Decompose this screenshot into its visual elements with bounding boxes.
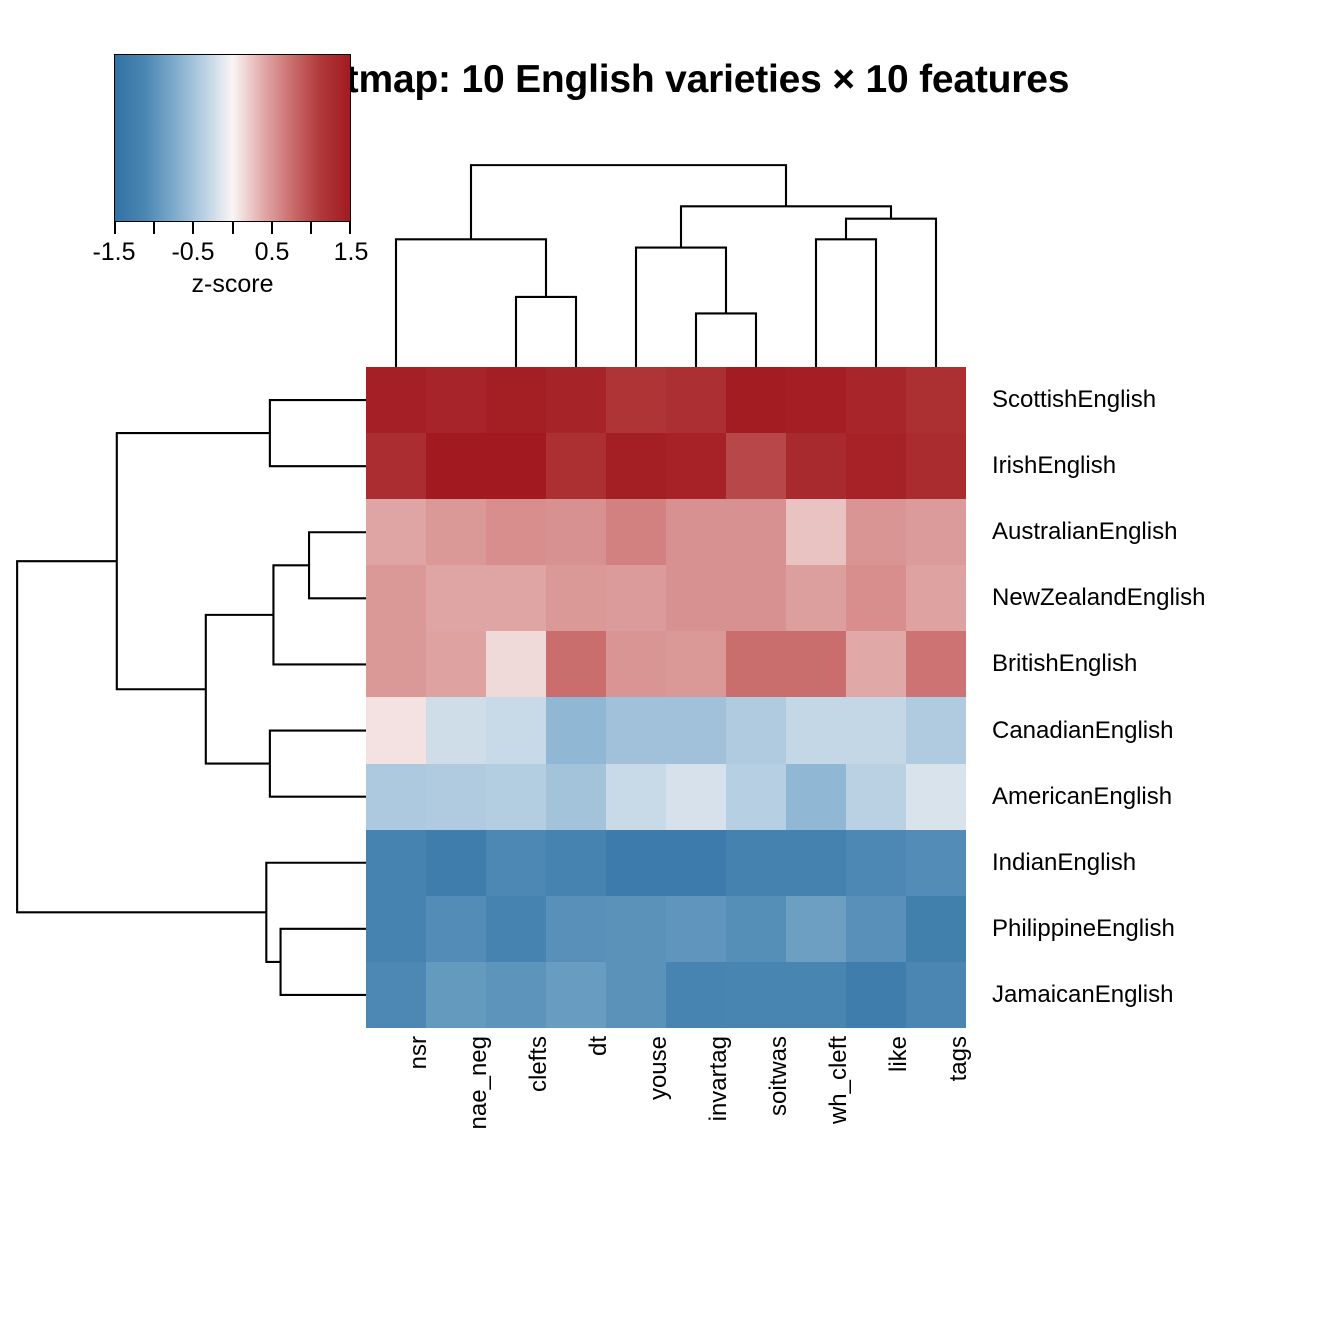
heatmap-cell <box>366 565 426 631</box>
heatmap-cell <box>606 764 666 830</box>
row-label: IrishEnglish <box>992 452 1116 480</box>
heatmap-cell <box>726 499 786 565</box>
heatmap-cell <box>666 764 726 830</box>
heatmap-cell <box>666 896 726 962</box>
heatmap-cell <box>486 764 546 830</box>
heatmap-cell <box>906 764 966 830</box>
heatmap-cell <box>426 565 486 631</box>
heatmap-cell <box>726 367 786 433</box>
row-label: PhilippineEnglish <box>992 915 1175 943</box>
heatmap-cell <box>726 962 786 1028</box>
heatmap-cell <box>546 896 606 962</box>
heatmap-cell <box>486 697 546 763</box>
column-label: like <box>885 1036 913 1072</box>
dendrogram-link <box>816 239 876 367</box>
heatmap-cell <box>666 631 726 697</box>
row-label-axis: ScottishEnglishIrishEnglishAustralianEng… <box>992 367 1332 1028</box>
column-label: youse <box>645 1036 673 1100</box>
heatmap-cell <box>846 565 906 631</box>
heatmap-cell <box>726 697 786 763</box>
heatmap-cell <box>606 565 666 631</box>
heatmap-cell <box>786 565 846 631</box>
heatmap-cell <box>906 631 966 697</box>
heatmap-cell <box>486 896 546 962</box>
heatmap-cell <box>726 830 786 896</box>
column-label: nae_neg <box>465 1036 493 1129</box>
heatmap-cell <box>606 896 666 962</box>
heatmap-panel <box>366 367 966 1028</box>
column-label: tags <box>945 1036 973 1081</box>
column-label-axis: nsrnae_negcleftsdtyouseinvartagsoitwaswh… <box>366 1036 966 1216</box>
legend-tick-marks <box>114 222 351 234</box>
heatmap-cell <box>486 830 546 896</box>
heatmap-cell <box>546 962 606 1028</box>
legend-tick-label: -0.5 <box>171 238 214 267</box>
row-label: AustralianEnglish <box>992 518 1177 546</box>
heatmap-cell <box>426 499 486 565</box>
heatmap-cell <box>726 764 786 830</box>
color-legend: -1.5-0.50.51.5 z-score <box>114 54 351 299</box>
heatmap-cell <box>606 499 666 565</box>
heatmap-cell <box>426 367 486 433</box>
heatmap-cell <box>786 367 846 433</box>
heatmap-cell <box>366 896 426 962</box>
heatmap-cell <box>846 962 906 1028</box>
heatmap-cell <box>906 697 966 763</box>
heatmap-cell <box>486 962 546 1028</box>
heatmap-cell <box>906 367 966 433</box>
dendrogram-link <box>270 731 366 797</box>
dendrogram-link <box>396 239 546 367</box>
heatmap-cell <box>606 697 666 763</box>
heatmap-cell <box>666 697 726 763</box>
heatmap-cell <box>366 367 426 433</box>
heatmap-cell <box>366 433 426 499</box>
dendrogram-link <box>309 532 366 598</box>
heatmap-cell <box>906 565 966 631</box>
heatmap-cell <box>786 499 846 565</box>
heatmap-cell <box>606 433 666 499</box>
dendrogram-link <box>206 615 274 764</box>
heatmap-cell <box>846 830 906 896</box>
row-label: BritishEnglish <box>992 650 1137 678</box>
heatmap-cell <box>786 764 846 830</box>
legend-tick-labels: -1.5-0.50.51.5 <box>114 234 351 268</box>
heatmap-cell <box>426 764 486 830</box>
heatmap-cell <box>486 433 546 499</box>
heatmap-cell <box>666 962 726 1028</box>
column-label: nsr <box>405 1036 433 1069</box>
heatmap-cell <box>786 896 846 962</box>
row-label: IndianEnglish <box>992 849 1136 877</box>
column-label: dt <box>585 1036 613 1056</box>
heatmap-cell <box>426 697 486 763</box>
column-label: clefts <box>525 1036 553 1092</box>
legend-axis-title: z-score <box>114 270 351 299</box>
heatmap-cell <box>726 565 786 631</box>
heatmap-cell <box>546 764 606 830</box>
heatmap-cell <box>906 830 966 896</box>
heatmap-cell <box>786 433 846 499</box>
heatmap-cell <box>546 499 606 565</box>
legend-tick <box>271 222 273 234</box>
heatmap-cell <box>786 697 846 763</box>
heatmap-cell <box>846 697 906 763</box>
heatmap-cell <box>846 631 906 697</box>
heatmap-cell <box>906 896 966 962</box>
row-label: CanadianEnglish <box>992 717 1173 745</box>
heatmap-cell <box>606 631 666 697</box>
heatmap-cell <box>846 367 906 433</box>
heatmap-cell <box>366 499 426 565</box>
heatmap-cell <box>666 565 726 631</box>
legend-tick-label: 1.5 <box>334 238 369 267</box>
heatmap-grid <box>366 367 966 1028</box>
legend-tick-label: -1.5 <box>92 238 135 267</box>
column-label: invartag <box>705 1036 733 1121</box>
heatmap-cell <box>846 499 906 565</box>
legend-tick <box>310 222 312 234</box>
heatmap-cell <box>666 367 726 433</box>
row-dendrogram <box>8 367 366 1028</box>
heatmap-cell <box>606 830 666 896</box>
dendrogram-link <box>270 400 366 466</box>
heatmap-cell <box>786 631 846 697</box>
dendrogram-link <box>696 313 756 367</box>
heatmap-cell <box>366 830 426 896</box>
row-label: AmericanEnglish <box>992 783 1172 811</box>
heatmap-cell <box>786 830 846 896</box>
heatmap-cell <box>426 631 486 697</box>
heatmap-cell <box>426 896 486 962</box>
legend-tick <box>349 222 351 234</box>
heatmap-cell <box>846 433 906 499</box>
column-label: wh_cleft <box>825 1036 853 1124</box>
heatmap-cell <box>486 565 546 631</box>
dendrogram-link <box>471 165 786 239</box>
heatmap-cell <box>906 499 966 565</box>
heatmap-cell <box>486 631 546 697</box>
row-label: JamaicanEnglish <box>992 981 1173 1009</box>
legend-gradient-bar <box>114 54 351 222</box>
heatmap-cell <box>606 962 666 1028</box>
row-label: NewZealandEnglish <box>992 584 1205 612</box>
heatmap-cell <box>426 830 486 896</box>
heatmap-cell <box>546 367 606 433</box>
dendrogram-link <box>281 929 366 995</box>
heatmap-cell <box>726 631 786 697</box>
heatmap-cell <box>606 367 666 433</box>
column-dendrogram <box>366 155 966 367</box>
row-label: ScottishEnglish <box>992 386 1156 414</box>
heatmap-cell <box>726 433 786 499</box>
heatmap-cell <box>486 367 546 433</box>
heatmap-cell <box>666 499 726 565</box>
heatmap-cell <box>426 433 486 499</box>
dendrogram-link <box>273 565 366 664</box>
heatmap-cell <box>546 830 606 896</box>
heatmap-cell <box>486 499 546 565</box>
legend-tick <box>153 222 155 234</box>
heatmap-cell <box>366 764 426 830</box>
heatmap-cell <box>666 433 726 499</box>
heatmap-cell <box>366 962 426 1028</box>
heatmap-cell <box>906 962 966 1028</box>
column-label: soitwas <box>765 1036 793 1116</box>
dendrogram-link <box>636 248 726 367</box>
heatmap-cell <box>846 764 906 830</box>
plot-canvas: Heatmap: 10 English varieties × 10 featu… <box>0 0 1344 1344</box>
heatmap-cell <box>726 896 786 962</box>
legend-tick-label: 0.5 <box>255 238 290 267</box>
heatmap-cell <box>426 962 486 1028</box>
heatmap-cell <box>546 631 606 697</box>
heatmap-cell <box>786 962 846 1028</box>
heatmap-cell <box>366 697 426 763</box>
legend-tick <box>192 222 194 234</box>
dendrogram-link <box>117 433 270 689</box>
heatmap-cell <box>546 433 606 499</box>
dendrogram-link <box>846 219 936 367</box>
dendrogram-link <box>681 206 891 247</box>
dendrogram-link <box>516 297 576 367</box>
heatmap-cell <box>906 433 966 499</box>
heatmap-cell <box>846 896 906 962</box>
heatmap-cell <box>666 830 726 896</box>
heatmap-cell <box>546 697 606 763</box>
legend-tick <box>114 222 116 234</box>
legend-tick <box>232 222 234 234</box>
heatmap-cell <box>546 565 606 631</box>
heatmap-cell <box>366 631 426 697</box>
